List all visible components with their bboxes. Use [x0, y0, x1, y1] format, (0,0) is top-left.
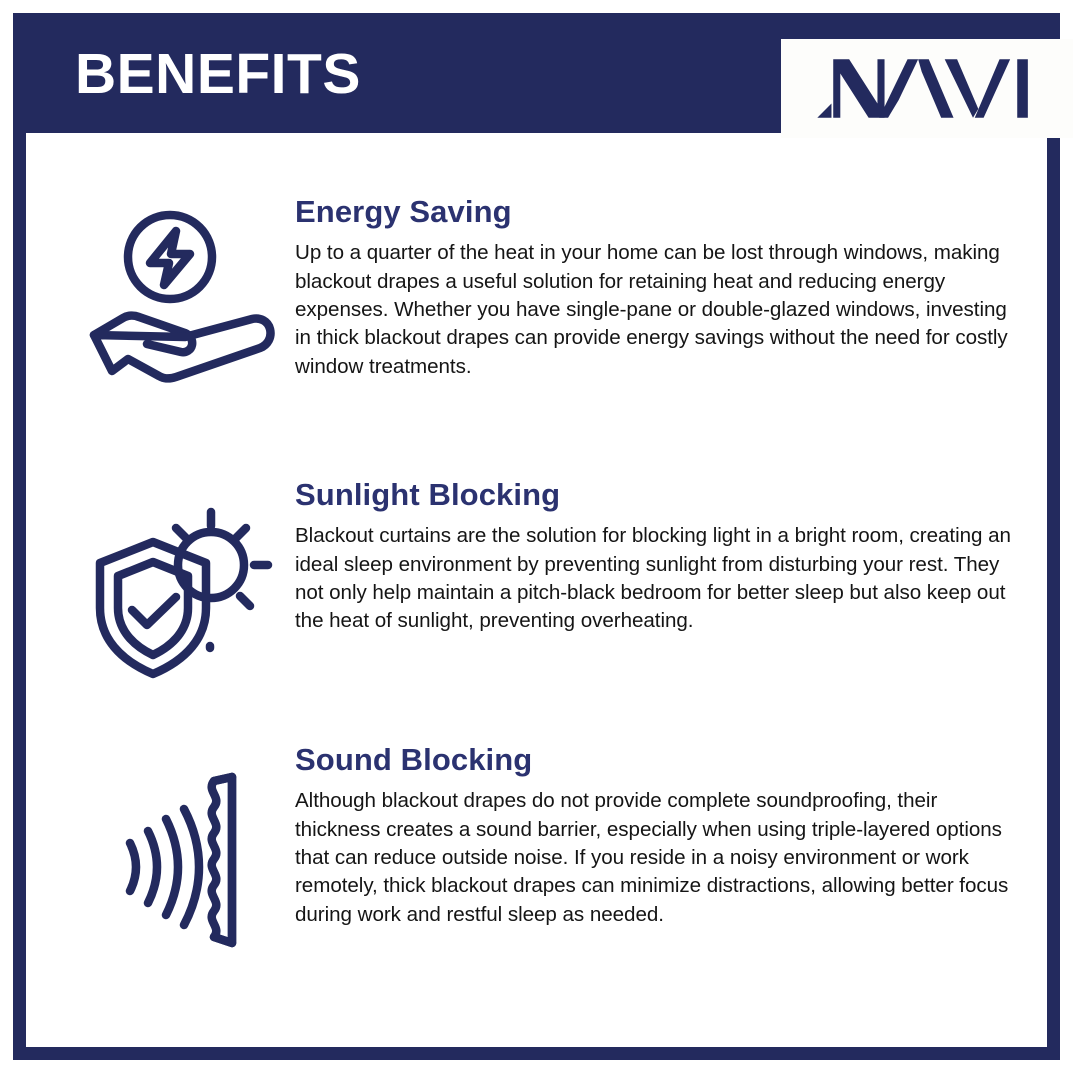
benefit-body: Blackout curtains are the solution for b… — [295, 522, 1025, 636]
shield-check-sun-icon — [88, 498, 278, 688]
navi-wordmark-icon — [812, 54, 1042, 123]
sound-waves-curtain-icon — [114, 771, 269, 951]
brand-logo — [781, 39, 1073, 138]
benefit-text-column: Sound Blocking Although blackout drapes … — [295, 743, 1025, 929]
benefit-body: Although blackout drapes do not provide … — [295, 787, 1025, 929]
benefit-body: Up to a quarter of the heat in your home… — [295, 239, 1025, 381]
header-band: BENEFITS — [13, 13, 1060, 133]
benefit-text-column: Energy Saving Up to a quarter of the hea… — [295, 195, 1025, 381]
page-title: BENEFITS — [75, 46, 361, 103]
poster-canvas: BENEFITS — [0, 0, 1080, 1080]
benefit-title: Sunlight Blocking — [295, 478, 1025, 512]
benefit-title: Sound Blocking — [295, 743, 1025, 777]
benefits-list: Energy Saving Up to a quarter of the hea… — [26, 133, 1047, 1047]
benefit-text-column: Sunlight Blocking Blackout curtains are … — [295, 478, 1025, 636]
benefit-title: Energy Saving — [295, 195, 1025, 229]
hand-holding-lightning-bolt-icon — [84, 209, 279, 384]
